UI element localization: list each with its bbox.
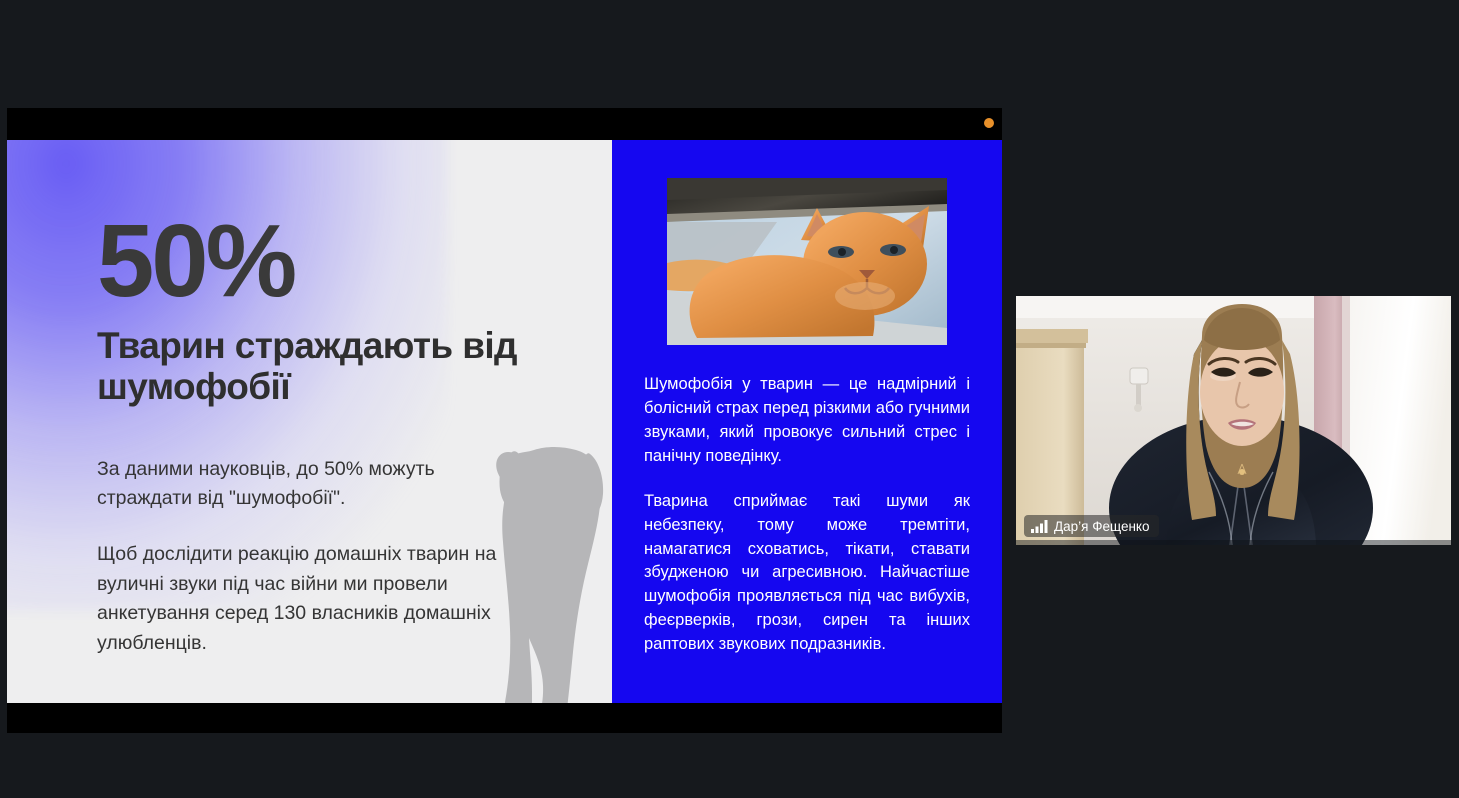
share-bottom-bar bbox=[7, 703, 1002, 733]
participant-name-label: Дар’я Фещенко bbox=[1054, 519, 1149, 534]
slide-right-panel: Шумофобія у тварин — це надмірний і болі… bbox=[612, 140, 1002, 703]
left-paragraph-2: Щоб дослідити реакцію домашніх тварин на… bbox=[97, 540, 517, 659]
screen-share-region[interactable]: 50% Тварин страждають від шумофобії За д… bbox=[7, 108, 1002, 733]
signal-bars-icon bbox=[1031, 520, 1048, 533]
participant-video-frame bbox=[1016, 296, 1451, 545]
presentation-slide: 50% Тварин страждають від шумофобії За д… bbox=[7, 140, 1002, 703]
slide-heading: Тварин страждають від шумофобії bbox=[97, 325, 557, 408]
slide-left-content: 50% Тварин страждають від шумофобії За д… bbox=[7, 140, 612, 659]
recording-indicator-dot bbox=[984, 118, 994, 128]
big-stat-value: 50% bbox=[97, 212, 572, 311]
right-paragraph-1: Шумофобія у тварин — це надмірний і болі… bbox=[644, 373, 970, 469]
share-top-bar bbox=[7, 108, 1002, 140]
right-paragraph-2: Тварина сприймає такі шуми як небезпеку,… bbox=[644, 490, 970, 657]
participant-video-tile[interactable]: Дар’я Фещенко bbox=[1016, 296, 1451, 545]
orange-cat-photo bbox=[667, 178, 947, 345]
left-paragraph-1: За даними науковців, до 50% можуть страж… bbox=[97, 455, 517, 514]
slide-left-panel: 50% Тварин страждають від шумофобії За д… bbox=[7, 140, 612, 703]
participant-name-badge: Дар’я Фещенко bbox=[1024, 515, 1159, 537]
share-scrollbar-track[interactable] bbox=[1003, 108, 1015, 733]
